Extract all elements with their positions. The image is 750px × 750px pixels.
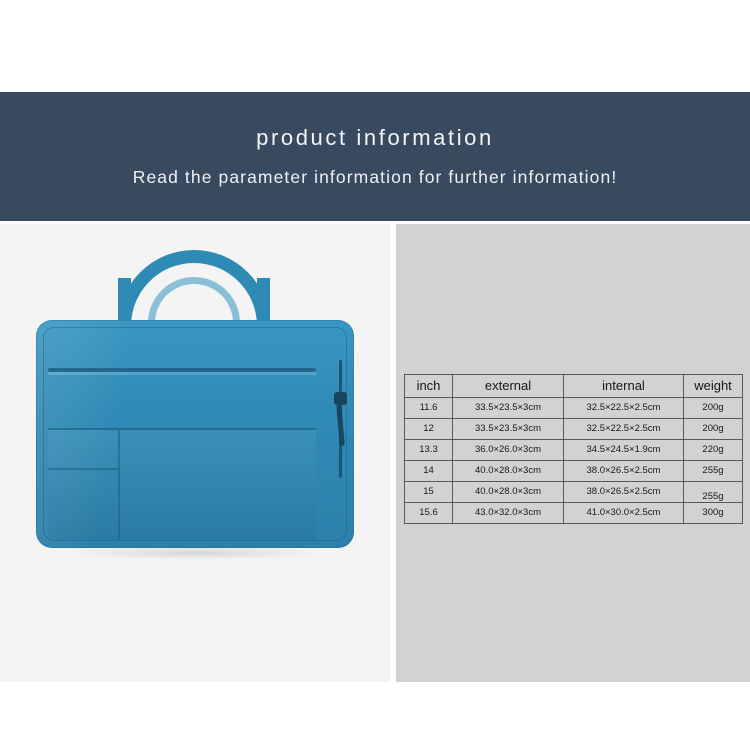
bag-welt-highlight	[48, 372, 316, 375]
cell-inch: 12	[405, 419, 453, 440]
column-header-inch: inch	[405, 375, 453, 398]
cell-external: 36.0×26.0×3cm	[453, 440, 564, 461]
cell-weight: 200g	[684, 419, 743, 440]
cell-inch: 14	[405, 461, 453, 482]
cell-internal: 34.5×24.5×1.9cm	[564, 440, 684, 461]
cell-external: 33.5×23.5×3cm	[453, 398, 564, 419]
page-title: product information	[256, 127, 494, 149]
bag-body	[36, 320, 354, 548]
cell-internal: 38.0×26.5×2.5cm	[564, 461, 684, 482]
bag-small-pocket-line	[48, 468, 118, 470]
cell-external: 33.5×23.5×3cm	[453, 419, 564, 440]
page-subtitle: Read the parameter information for furth…	[133, 169, 618, 187]
cell-external: 40.0×28.0×3cm	[453, 482, 564, 503]
cell-inch: 11.6	[405, 398, 453, 419]
header-banner: product information Read the parameter i…	[0, 92, 750, 221]
product-image-stage	[0, 224, 390, 682]
bag-pocket-divider	[118, 430, 120, 540]
cell-weight: 255g	[684, 482, 743, 503]
specification-table: inch external internal weight 11.6 33.5×…	[404, 374, 743, 524]
table-row: 14 40.0×28.0×3cm 38.0×26.5×2.5cm 255g	[405, 461, 743, 482]
column-header-external: external	[453, 375, 564, 398]
table-header-row: inch external internal weight	[405, 375, 743, 398]
bag-front-pocket	[48, 428, 316, 540]
column-header-weight: weight	[684, 375, 743, 398]
cell-internal: 32.5×22.5×2.5cm	[564, 398, 684, 419]
cell-inch: 15.6	[405, 503, 453, 524]
cell-weight: 220g	[684, 440, 743, 461]
cell-weight: 255g	[684, 461, 743, 482]
table-row: 15 40.0×28.0×3cm 38.0×26.5×2.5cm 255g	[405, 482, 743, 503]
cell-external: 43.0×32.0×3cm	[453, 503, 564, 524]
zipper-pull-icon	[334, 392, 347, 405]
laptop-bag-illustration	[36, 320, 354, 548]
cell-weight: 300g	[684, 503, 743, 524]
bag-drop-shadow	[66, 546, 324, 560]
product-information-page: product information Read the parameter i…	[0, 0, 750, 750]
cell-internal: 32.5×22.5×2.5cm	[564, 419, 684, 440]
cell-internal: 38.0×26.5×2.5cm	[564, 482, 684, 503]
cell-inch: 13.3	[405, 440, 453, 461]
table-row: 12 33.5×23.5×3cm 32.5×22.5×2.5cm 200g	[405, 419, 743, 440]
spec-table-wrapper: inch external internal weight 11.6 33.5×…	[404, 374, 742, 524]
cell-external: 40.0×28.0×3cm	[453, 461, 564, 482]
column-header-internal: internal	[564, 375, 684, 398]
table-row: 15.6 43.0×32.0×3cm 41.0×30.0×2.5cm 300g	[405, 503, 743, 524]
table-row: 13.3 36.0×26.0×3cm 34.5×24.5×1.9cm 220g	[405, 440, 743, 461]
cell-internal: 41.0×30.0×2.5cm	[564, 503, 684, 524]
cell-inch: 15	[405, 482, 453, 503]
cell-weight: 200g	[684, 398, 743, 419]
table-row: 11.6 33.5×23.5×3cm 32.5×22.5×2.5cm 200g	[405, 398, 743, 419]
